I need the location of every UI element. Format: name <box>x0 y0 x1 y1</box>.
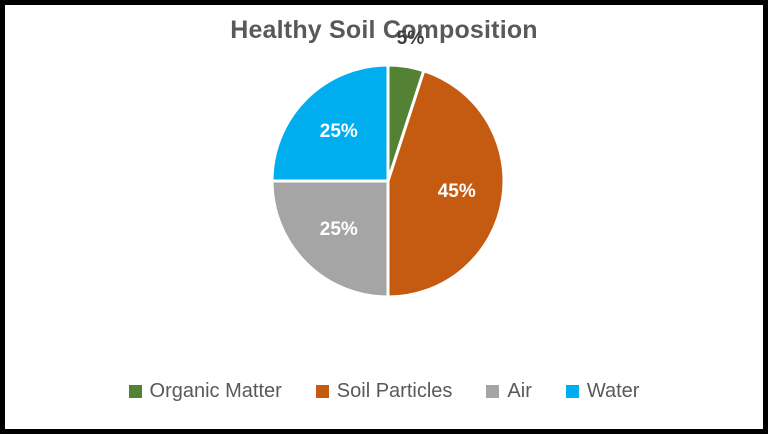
pie-slice-value-label: 45% <box>438 181 476 202</box>
legend-swatch-icon <box>129 385 142 398</box>
legend-item-label: Organic Matter <box>150 381 282 401</box>
pie-slice-value-label: 25% <box>320 219 358 240</box>
legend-swatch-icon <box>316 385 329 398</box>
legend: Organic Matter Soil Particles Air Water <box>5 381 763 401</box>
legend-item-label: Air <box>507 381 531 401</box>
legend-swatch-icon <box>566 385 579 398</box>
legend-item-soil-particles[interactable]: Soil Particles <box>316 381 453 401</box>
legend-item-organic-matter[interactable]: Organic Matter <box>129 381 282 401</box>
pie-svg: 5%45%25%25% <box>263 56 513 306</box>
pie-slice-value-label: 25% <box>320 121 358 142</box>
pie-plot-area: 5%45%25%25% <box>5 5 763 429</box>
chart-title: Healthy Soil Composition <box>5 15 763 45</box>
legend-item-air[interactable]: Air <box>486 381 531 401</box>
pie-chart-figure: Healthy Soil Composition 5%45%25%25% Org… <box>0 0 768 434</box>
legend-item-label: Soil Particles <box>337 381 453 401</box>
legend-swatch-icon <box>486 385 499 398</box>
pie-slice-value-label: 5% <box>397 28 425 49</box>
legend-item-label: Water <box>587 381 640 401</box>
legend-item-water[interactable]: Water <box>566 381 640 401</box>
